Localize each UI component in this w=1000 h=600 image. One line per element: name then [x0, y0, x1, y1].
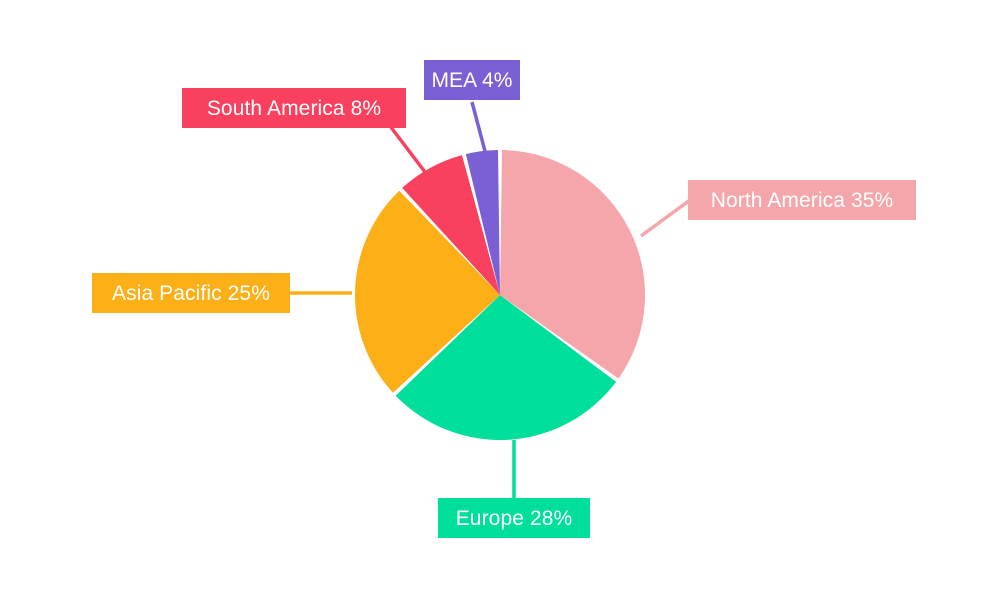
pie-leader-line: [390, 126, 425, 172]
pie-label-north-america[interactable]: North America 35%: [688, 180, 916, 220]
pie-label-text: North America 35%: [711, 190, 894, 211]
pie-label-text: Europe 28%: [456, 508, 573, 529]
pie-label-asia-pacific[interactable]: Asia Pacific 25%: [92, 273, 290, 313]
pie-leader-line: [641, 200, 690, 236]
pie-label-text: South America 8%: [207, 98, 381, 119]
pie-label-south-america[interactable]: South America 8%: [182, 88, 406, 128]
pie-leader-line: [472, 102, 486, 155]
pie-label-europe[interactable]: Europe 28%: [438, 498, 590, 538]
pie-label-text: MEA 4%: [431, 70, 512, 91]
pie-label-text: Asia Pacific 25%: [112, 283, 270, 304]
pie-chart: North America 35% Europe 28% Asia Pacifi…: [0, 0, 1000, 600]
pie-label-mea[interactable]: MEA 4%: [424, 60, 520, 100]
pie-slice-group: [355, 150, 645, 440]
